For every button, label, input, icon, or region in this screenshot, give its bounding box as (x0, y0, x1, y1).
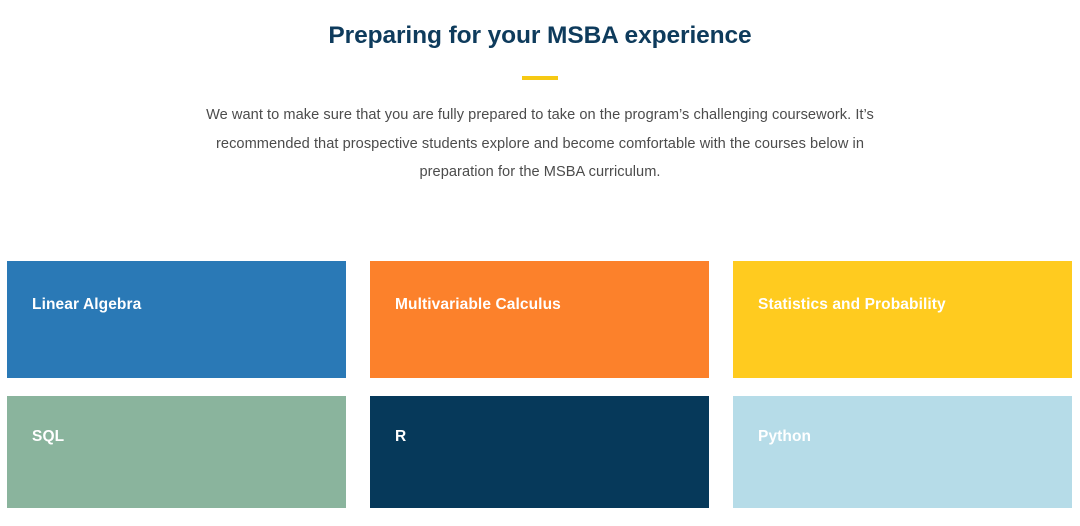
course-card-multivariable-calculus[interactable]: Multivariable Calculus (370, 261, 709, 378)
intro-section: Preparing for your MSBA experience We wa… (0, 0, 1080, 187)
course-card-r[interactable]: R (370, 396, 709, 508)
intro-paragraph: We want to make sure that you are fully … (190, 101, 890, 187)
course-card-label: R (395, 427, 406, 447)
course-card-linear-algebra[interactable]: Linear Algebra (7, 261, 346, 378)
course-card-label: Multivariable Calculus (395, 295, 561, 315)
page-title: Preparing for your MSBA experience (0, 19, 1080, 53)
course-card-python[interactable]: Python (733, 396, 1072, 508)
course-card-statistics-and-probability[interactable]: Statistics and Probability (733, 261, 1072, 378)
course-card-label: Linear Algebra (32, 295, 141, 315)
title-divider-wrap (0, 67, 1080, 89)
course-card-label: SQL (32, 427, 64, 447)
title-divider (522, 76, 558, 80)
course-card-label: Python (758, 427, 811, 447)
course-card-grid: Linear Algebra Multivariable Calculus St… (7, 261, 1072, 513)
course-card-label: Statistics and Probability (758, 295, 946, 315)
msba-preparation-page: Preparing for your MSBA experience We wa… (0, 0, 1080, 526)
course-card-sql[interactable]: SQL (7, 396, 346, 508)
